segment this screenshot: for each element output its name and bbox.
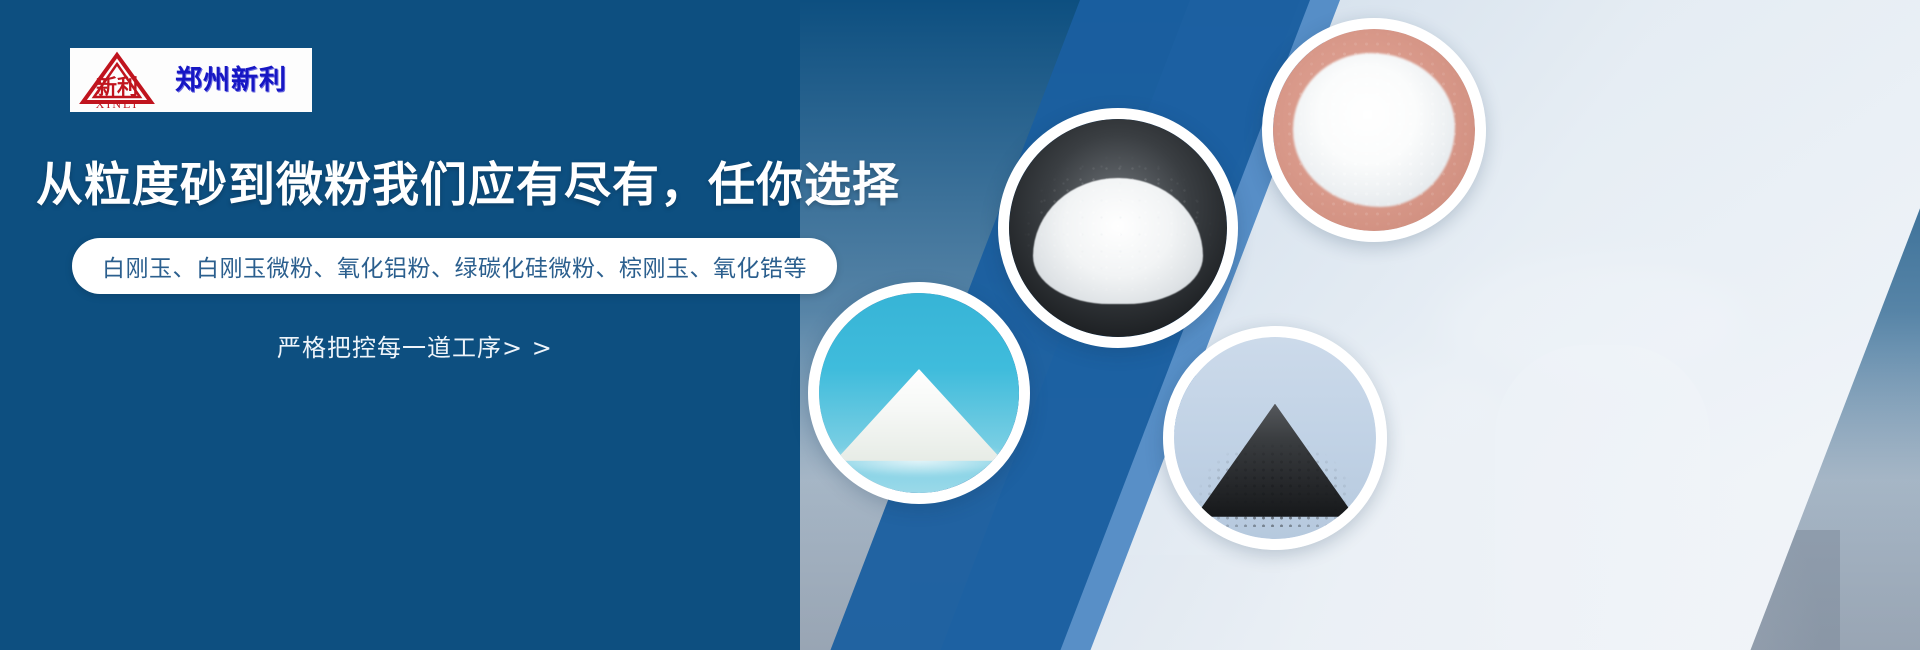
circle-3-background <box>819 293 1019 493</box>
company-logo[interactable]: 新利 XINLI 郑州新利 <box>70 48 312 112</box>
logo-mark-text: 新利 <box>96 75 138 99</box>
product-circle-white-granules-on-black <box>998 108 1238 348</box>
circle-2-background <box>1273 29 1475 231</box>
product-circle-black-granules-on-blue <box>1163 326 1387 550</box>
xinli-triangle-icon: 新利 XINLI <box>78 50 156 110</box>
circle-2-powder-texture <box>1273 29 1475 231</box>
circle-4-granule-texture <box>1178 402 1372 527</box>
company-name: 郑州新利 <box>156 67 306 94</box>
logo-pinyin-text: XINLI <box>96 97 139 110</box>
product-list-pill: 白刚玉、白刚玉微粉、氧化铝粉、绿碳化硅微粉、棕刚玉、氧化锆等 <box>72 238 837 294</box>
circle-3-powder-cone <box>835 369 1003 461</box>
product-circle-white-powder-on-pink <box>1262 18 1486 242</box>
promo-banner: 新利 XINLI 郑州新利 从粒度砂到微粉我们应有尽有，任你选择 白刚玉、白刚玉… <box>0 0 1920 650</box>
circle-1-granule-texture <box>1009 119 1227 337</box>
product-circle-white-powder-cone-cyan <box>808 282 1030 504</box>
process-tagline-link[interactable]: 严格把控每一道工序> > <box>277 328 553 363</box>
circle-4-background <box>1174 337 1376 539</box>
circle-1-background <box>1009 119 1227 337</box>
product-list-text: 白刚玉、白刚玉微粉、氧化铝粉、绿碳化硅微粉、棕刚玉、氧化锆等 <box>102 249 807 283</box>
page-title: 从粒度砂到微粉我们应有尽有，任你选择 <box>36 146 900 215</box>
